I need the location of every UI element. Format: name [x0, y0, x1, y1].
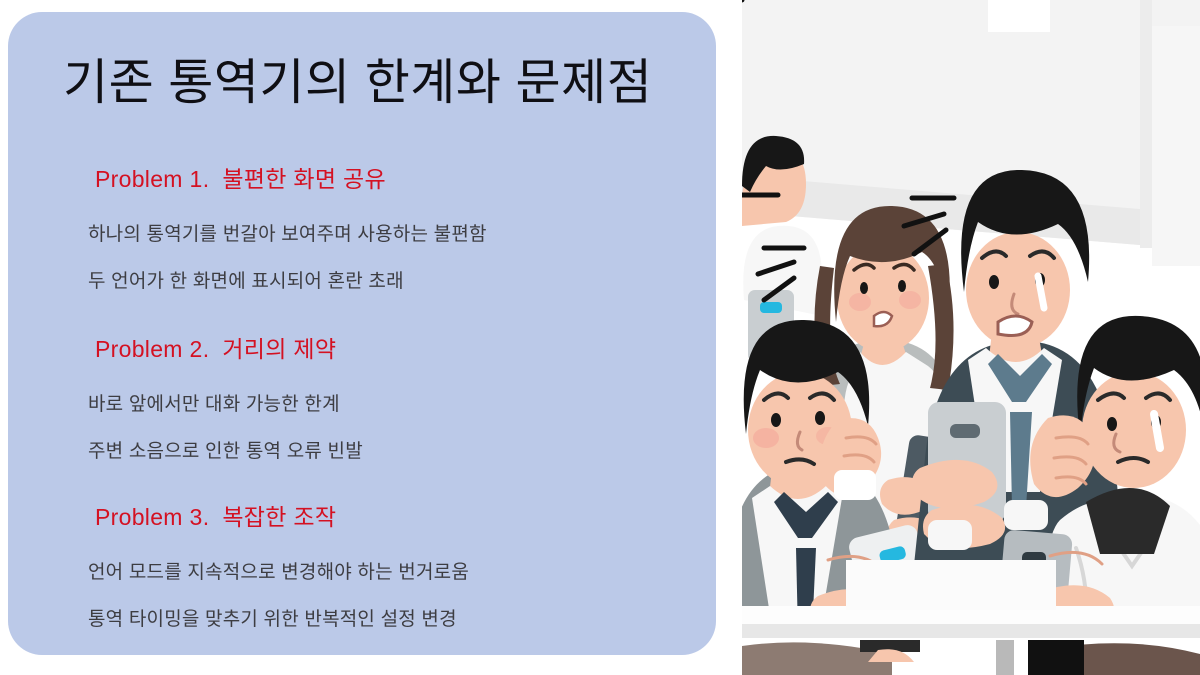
foreground-dark-shape	[1028, 640, 1084, 675]
problem-heading-2: Problem 2. 거리의 제약	[95, 334, 336, 364]
problem-label-1: Problem	[95, 166, 183, 192]
problem-title-1: 불편한 화면 공유	[222, 166, 386, 192]
illustration-svg	[742, 0, 1200, 675]
problem-number-3: 3.	[189, 504, 209, 530]
problem-number-2: 2.	[189, 336, 209, 362]
problem-heading-1: Problem 1. 불편한 화면 공유	[95, 164, 386, 194]
problem-detail-2-1: 바로 앞에서만 대화 가능한 한계	[88, 392, 340, 418]
content-card: 기존 통역기의 한계와 문제점 Problem 1. 불편한 화면 공유 하나의…	[8, 12, 716, 655]
problem-detail-1-2: 두 언어가 한 화면에 표시되어 혼란 초래	[88, 269, 404, 295]
problem-heading-3: Problem 3. 복잡한 조작	[95, 502, 336, 532]
problem-title-3: 복잡한 조작	[222, 504, 336, 530]
problem-detail-3-2: 통역 타이밍을 맞추기 위한 반복적인 설정 변경	[88, 607, 457, 633]
page-title: 기존 통역기의 한계와 문제점	[63, 54, 703, 112]
table-surface	[846, 560, 1056, 610]
problem-label-3: Problem	[95, 504, 183, 530]
problem-detail-2-2: 주변 소음으로 인한 통역 오류 빈발	[88, 439, 363, 465]
illustration-frustrated-office-workers	[742, 0, 1200, 675]
foreground-post	[996, 640, 1014, 675]
problem-title-2: 거리의 제약	[222, 336, 336, 362]
problem-number-1: 1.	[189, 166, 209, 192]
table-edge	[742, 624, 1200, 638]
problem-detail-3-1: 언어 모드를 지속적으로 변경해야 하는 번거로움	[88, 560, 469, 586]
wall-corner	[1140, 0, 1152, 248]
problem-label-2: Problem	[95, 336, 183, 362]
slide-root: 기존 통역기의 한계와 문제점 Problem 1. 불편한 화면 공유 하나의…	[0, 0, 1200, 675]
back-wall	[1152, 26, 1200, 266]
ceiling-light	[988, 0, 1050, 32]
problem-detail-1-1: 하나의 통역기를 번갈아 보여주며 사용하는 불편함	[88, 222, 487, 248]
